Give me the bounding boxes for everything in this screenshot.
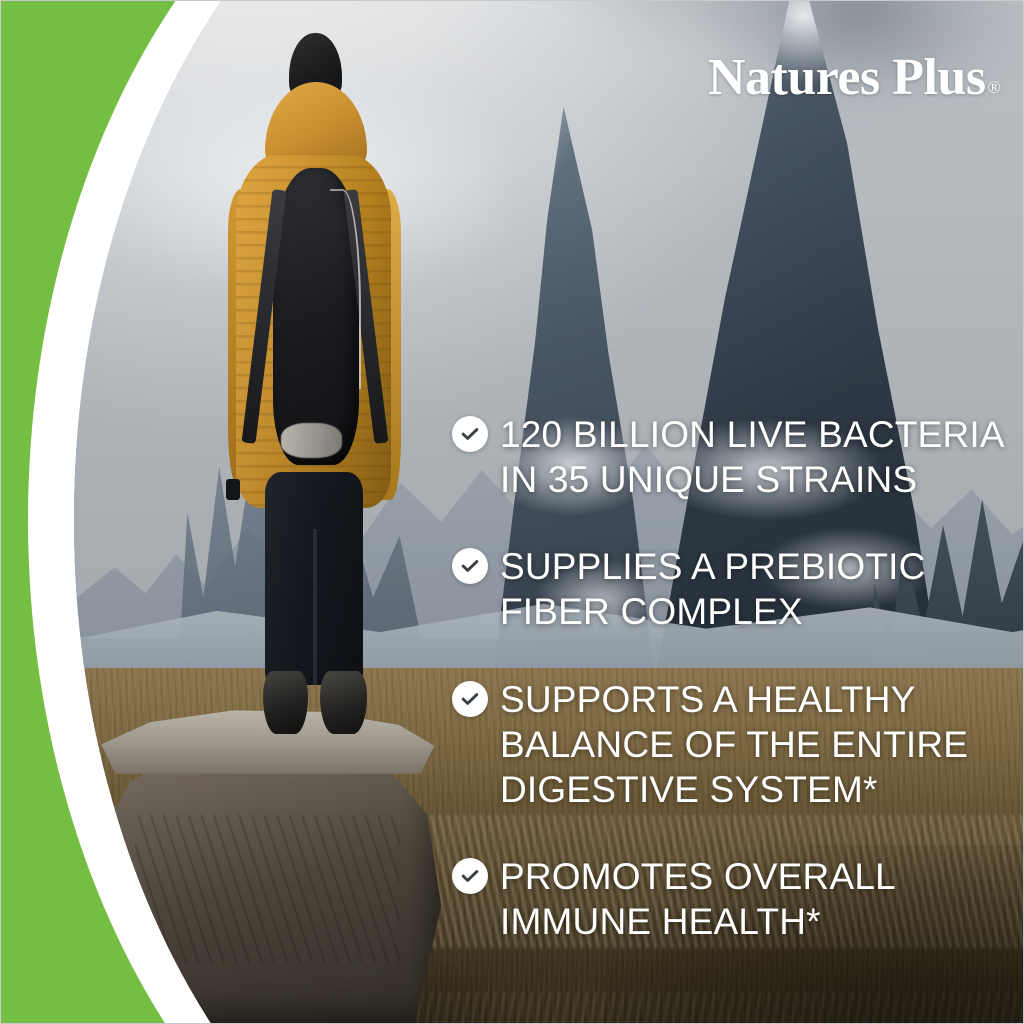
check-circle-icon: [452, 681, 488, 717]
benefit-list: 120 BILLION LIVE BACTERIA IN 35 UNIQUE S…: [452, 412, 1012, 944]
benefit-label: SUPPORTS A HEALTHY BALANCE OF THE ENTIRE…: [500, 677, 968, 812]
brand-logo-text: Natures Plus: [708, 49, 986, 106]
benefit-item: SUPPORTS A HEALTHY BALANCE OF THE ENTIRE…: [452, 677, 1012, 812]
benefit-label: SUPPLIES A PREBIOTIC FIBER COMPLEX: [500, 544, 926, 634]
hiking-boot-right: [320, 671, 367, 735]
benefit-label: PROMOTES OVERALL IMMUNE HEALTH*: [500, 854, 896, 944]
check-circle-icon: [452, 416, 488, 452]
benefit-item: PROMOTES OVERALL IMMUNE HEALTH*: [452, 854, 1012, 944]
registered-trademark-icon: ®: [988, 78, 1000, 97]
wrist-watch: [226, 479, 240, 500]
benefit-item: 120 BILLION LIVE BACTERIA IN 35 UNIQUE S…: [452, 412, 1012, 502]
backpack-trim: [281, 423, 342, 458]
boulder-cracks: [135, 815, 400, 963]
check-circle-icon: [452, 858, 488, 894]
benefit-label: 120 BILLION LIVE BACTERIA IN 35 UNIQUE S…: [500, 412, 1005, 502]
check-circle-icon: [452, 548, 488, 584]
benefit-item: SUPPLIES A PREBIOTIC FIBER COMPLEX: [452, 544, 1012, 634]
leg-separation: [313, 529, 317, 685]
hiking-boot-left: [263, 671, 308, 735]
brand-logo: Natures Plus®: [708, 52, 998, 104]
product-benefit-banner: Natures Plus® 120 BILLION LIVE BACTERIA …: [0, 0, 1024, 1024]
hiker-figure: [212, 33, 416, 741]
